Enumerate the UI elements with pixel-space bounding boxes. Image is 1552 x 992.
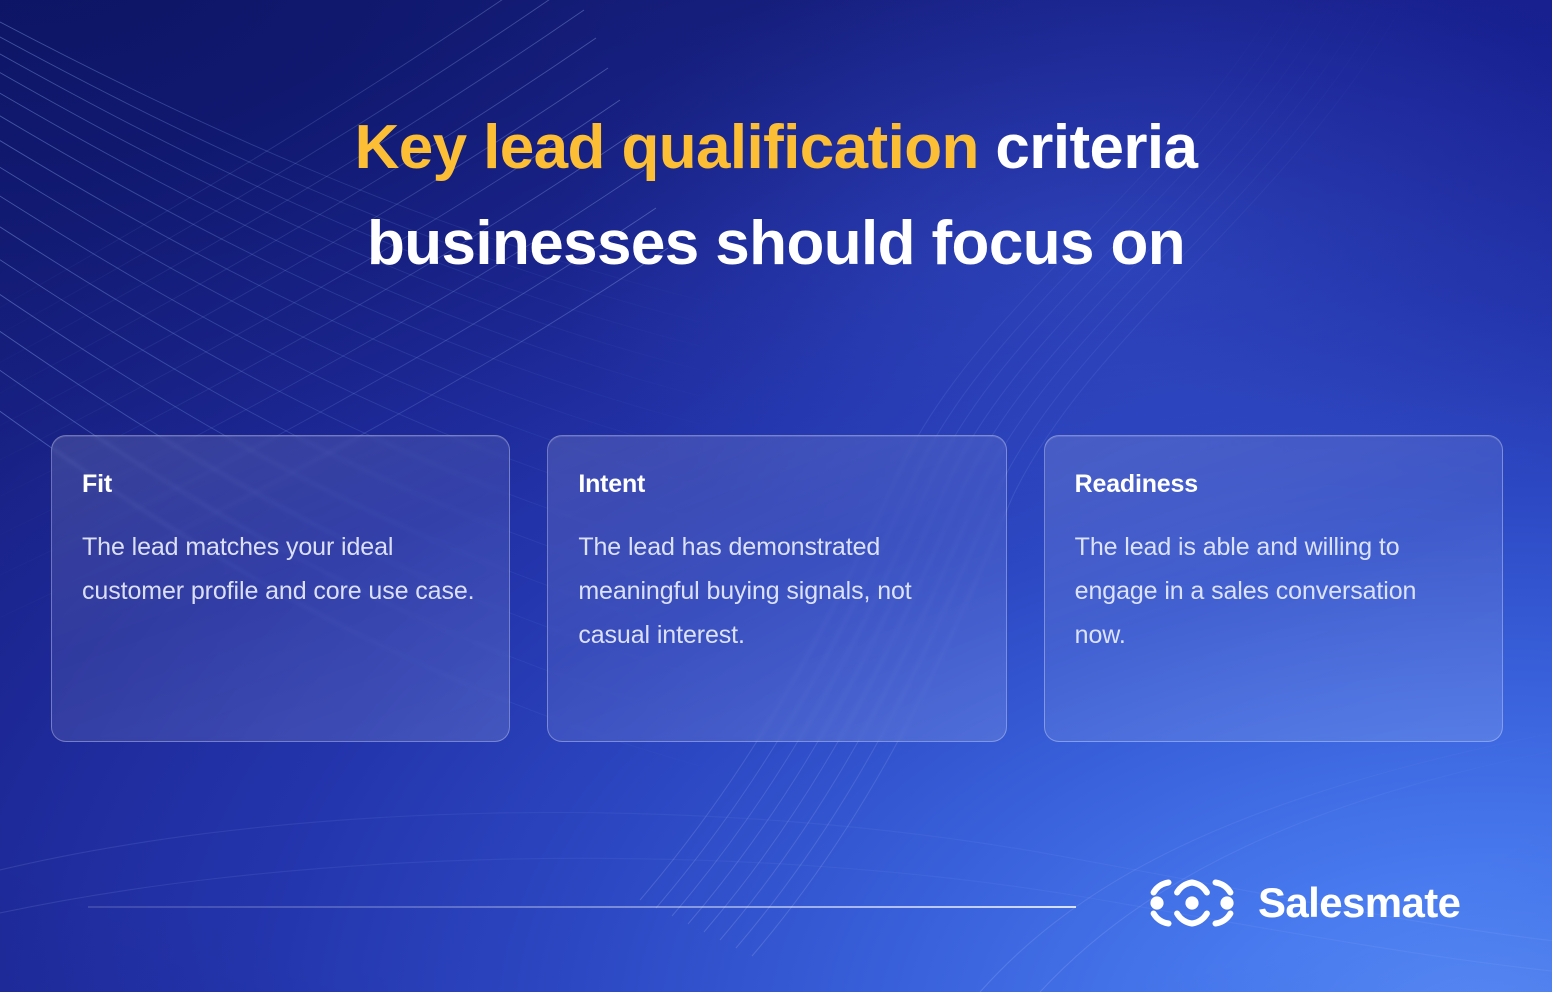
footer-divider [88, 906, 1076, 908]
card-heading: Readiness [1075, 470, 1472, 499]
salesmate-brand-lockup: Salesmate [1146, 875, 1460, 931]
criteria-card-intent[interactable]: Intent The lead has demonstrated meaning… [547, 435, 1006, 742]
card-heading: Fit [82, 470, 479, 499]
criteria-card-fit[interactable]: Fit The lead matches your ideal customer… [51, 435, 510, 742]
page-title-accent-text: Key lead qualification [355, 113, 979, 182]
salesmate-logo-icon [1146, 875, 1238, 931]
card-heading: Intent [578, 470, 975, 499]
page-title-line-2: businesses should focus on [0, 196, 1552, 292]
card-body-text: The lead has demonstrated meaningful buy… [578, 525, 975, 657]
card-body-text: The lead is able and willing to engage i… [1075, 525, 1472, 657]
page-title: Key lead qualification criteria business… [0, 100, 1552, 292]
card-body-text: The lead matches your ideal customer pro… [82, 525, 479, 613]
brand-name-label: Salesmate [1258, 882, 1460, 924]
criteria-card-group: Fit The lead matches your ideal customer… [51, 435, 1503, 742]
page-title-rest-text: criteria [979, 113, 1198, 182]
page-title-line-1: Key lead qualification criteria [0, 100, 1552, 196]
criteria-card-readiness[interactable]: Readiness The lead is able and willing t… [1044, 435, 1503, 742]
